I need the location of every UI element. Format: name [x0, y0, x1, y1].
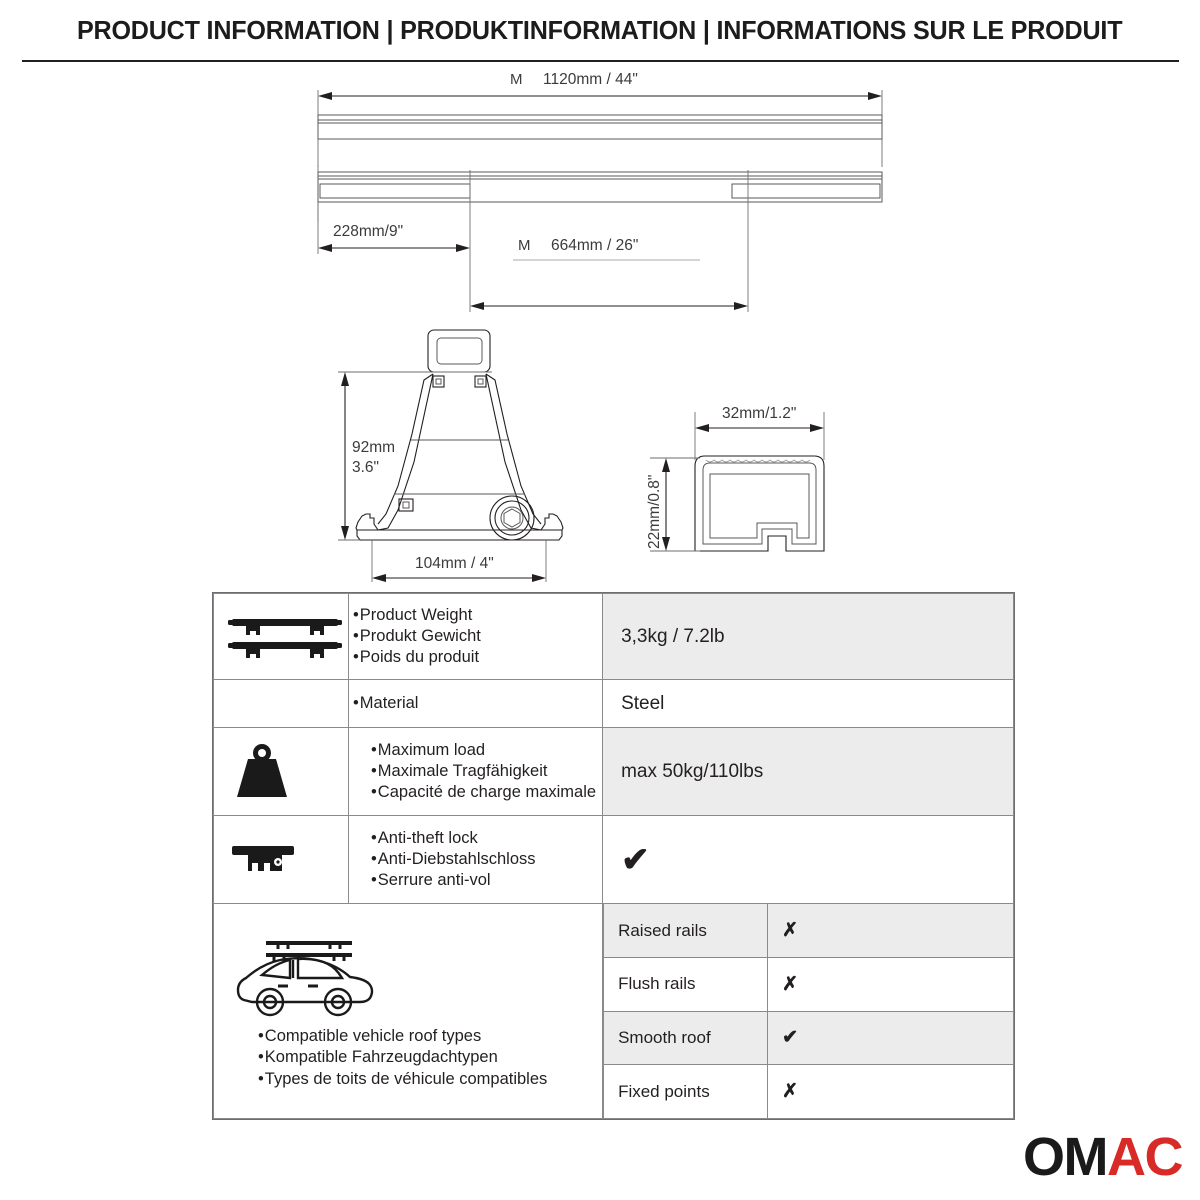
- car-with-rack-icon: [222, 930, 394, 1020]
- table-row-max-load: •Maximum load •Maximale Tragfähigkeit •C…: [214, 728, 1014, 816]
- profile-height-value: 22mm/0.8": [646, 475, 663, 549]
- table-value-lock: ✔: [603, 816, 1014, 904]
- profile-cross-section: [695, 456, 824, 551]
- drawings-svg: M 1120mm / 44": [0, 62, 1200, 582]
- roof-type-mark-flush: ✗: [768, 958, 1013, 1012]
- profile-width-value: 32mm/1.2": [722, 405, 796, 422]
- page-header: PRODUCT INFORMATION | PRODUKTINFORMATION…: [0, 0, 1200, 62]
- lock-icon: [214, 816, 349, 904]
- foot-offset-value: 228mm/9": [333, 223, 403, 240]
- table-value-material: Steel: [603, 680, 1014, 728]
- table-label-lock: •Anti-theft lock •Anti-Diebstahlschloss …: [349, 816, 603, 904]
- table-row-lock: •Anti-theft lock •Anti-Diebstahlschloss …: [214, 816, 1014, 904]
- logo-text-dark: OM: [1023, 1127, 1107, 1187]
- roof-types-label-cell: •Compatible vehicle roof types •Kompatib…: [214, 904, 603, 1119]
- table-row-weight: •Product Weight •Produkt Gewicht •Poids …: [214, 594, 1014, 680]
- roof-type-mark-fixed: ✗: [768, 1065, 1013, 1119]
- table-label-weight: •Product Weight •Produkt Gewicht •Poids …: [349, 594, 603, 680]
- label-lock-de: Anti-Diebstahlschloss: [378, 850, 536, 868]
- table-label-material: •Material: [349, 680, 603, 728]
- table-row-material: •Material Steel: [214, 680, 1014, 728]
- table-row-roof-types: •Compatible vehicle roof types •Kompatib…: [214, 904, 1014, 1119]
- specification-table: •Product Weight •Produkt Gewicht •Poids …: [212, 592, 1015, 1120]
- label-lock-fr: Serrure anti-vol: [378, 871, 491, 889]
- table-value-weight: 3,3kg / 7.2lb: [603, 594, 1014, 680]
- material-icon-placeholder: [214, 680, 349, 728]
- bar-span-marker: M: [518, 237, 531, 254]
- label-weight-fr: Poids du produit: [360, 648, 479, 666]
- roof-type-row-raised: Raised rails ✗: [604, 904, 1013, 958]
- label-weight-de: Produkt Gewicht: [360, 627, 481, 645]
- label-roof-en: Compatible vehicle roof types: [265, 1027, 481, 1045]
- crossbar-side-view: [318, 165, 882, 222]
- foot-front-view: [356, 330, 563, 540]
- roof-type-name-smooth: Smooth roof: [604, 1011, 768, 1065]
- table-label-max-load: •Maximum load •Maximale Tragfähigkeit •C…: [349, 728, 603, 816]
- foot-height-line2: 3.6": [352, 459, 379, 476]
- page-title: PRODUCT INFORMATION | PRODUKTINFORMATION…: [77, 17, 1122, 46]
- bar-span-value: 664mm / 26": [551, 237, 638, 254]
- label-lock-en: Anti-theft lock: [378, 829, 478, 847]
- logo-text-red: AC: [1107, 1127, 1182, 1187]
- roof-types-matrix: Raised rails ✗ Flush rails ✗ Smooth roof…: [603, 904, 1014, 1119]
- crossbar-top-view: [318, 115, 882, 139]
- label-load-fr: Capacité de charge maximale: [378, 783, 596, 801]
- roof-type-row-fixed: Fixed points ✗: [604, 1065, 1013, 1119]
- bar-length-dimension: [318, 90, 882, 167]
- label-roof-fr: Types de toits de véhicule compatibles: [265, 1070, 548, 1088]
- roof-type-name-flush: Flush rails: [604, 958, 768, 1012]
- roof-bars-icon: [214, 594, 349, 680]
- table-value-max-load: max 50kg/110lbs: [603, 728, 1014, 816]
- roof-types-labels: •Compatible vehicle roof types •Kompatib…: [222, 1026, 594, 1090]
- foot-height-line1: 92mm: [352, 439, 395, 456]
- foot-offset-dimension: [318, 170, 470, 254]
- bar-length-marker: M: [510, 71, 523, 88]
- foot-width-value: 104mm / 4": [415, 555, 494, 572]
- lock-checkmark: ✔: [621, 841, 650, 879]
- roof-type-mark-raised: ✗: [768, 904, 1013, 958]
- label-load-en: Maximum load: [378, 741, 485, 759]
- weight-icon: [214, 728, 349, 816]
- roof-type-mark-smooth: ✔: [768, 1011, 1013, 1065]
- bar-length-value: 1120mm / 44": [543, 71, 638, 88]
- label-weight-en: Product Weight: [360, 606, 473, 624]
- roof-type-name-raised: Raised rails: [604, 904, 768, 958]
- product-info-page: PRODUCT INFORMATION | PRODUKTINFORMATION…: [0, 0, 1200, 1200]
- label-material-en: Material: [360, 694, 419, 712]
- roof-type-row-flush: Flush rails ✗: [604, 958, 1013, 1012]
- omac-logo: OMAC: [1023, 1130, 1182, 1184]
- technical-drawings: M 1120mm / 44": [0, 62, 1200, 582]
- roof-type-name-fixed: Fixed points: [604, 1065, 768, 1119]
- label-load-de: Maximale Tragfähigkeit: [378, 762, 548, 780]
- label-roof-de: Kompatible Fahrzeugdachtypen: [265, 1048, 498, 1066]
- roof-type-row-smooth: Smooth roof ✔: [604, 1011, 1013, 1065]
